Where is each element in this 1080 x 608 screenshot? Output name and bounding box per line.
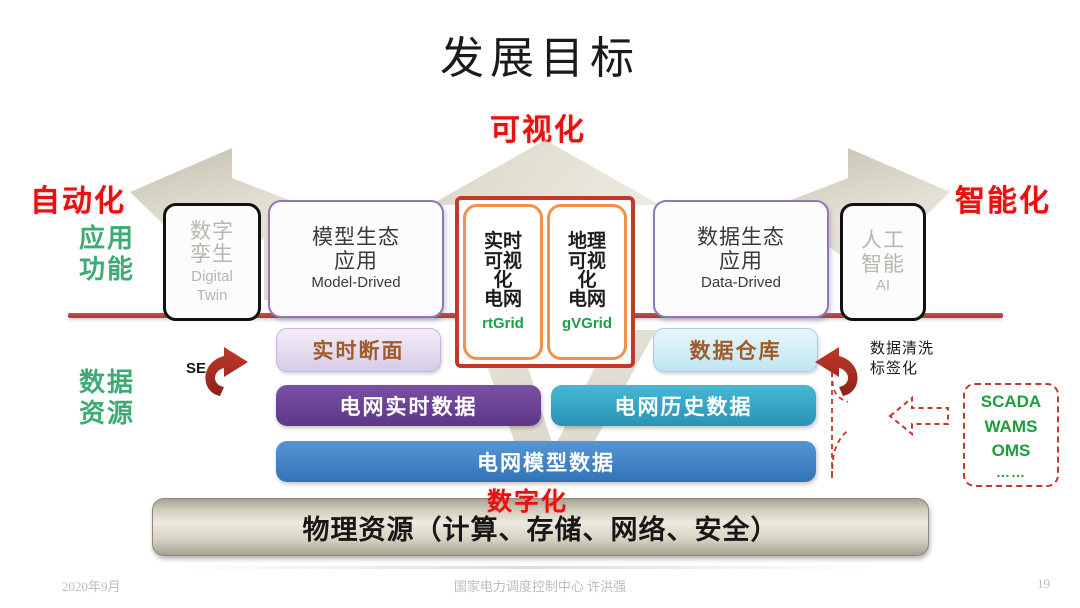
source-system-wams: WAMS bbox=[985, 415, 1038, 440]
source-systems-ellipsis: …… bbox=[996, 464, 1026, 480]
annotation-se: SE bbox=[186, 360, 206, 377]
curved-arrow-right-icon bbox=[205, 347, 248, 398]
source-system-scada: SCADA bbox=[981, 390, 1041, 415]
annotation-data-cleaning-line2: 标签化 bbox=[870, 360, 980, 380]
source-system-oms: OMS bbox=[992, 439, 1031, 464]
annotation-data-cleaning-line1: 数据清洗 bbox=[870, 340, 980, 360]
annotation-data-cleaning: 数据清洗 标签化 bbox=[870, 340, 980, 379]
curved-arrow-left-icon bbox=[815, 347, 858, 396]
source-systems-box[interactable]: SCADA WAMS OMS …… bbox=[963, 383, 1059, 487]
dashed-arrow-left-icon bbox=[890, 398, 948, 434]
goal-label-digitalization: 数字化 bbox=[487, 482, 568, 518]
